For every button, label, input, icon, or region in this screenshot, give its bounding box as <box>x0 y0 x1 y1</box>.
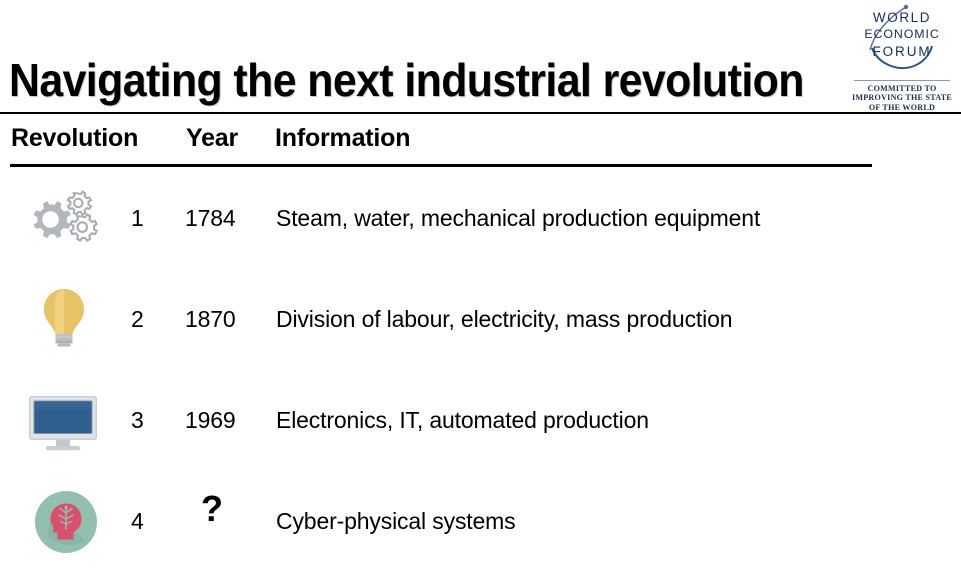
title-divider <box>0 112 961 114</box>
logo-line-forum: FORUM <box>848 43 956 60</box>
cell-information: Cyber-physical systems <box>276 508 516 534</box>
table-row: 1 1784 Steam, water, mechanical producti… <box>0 168 961 269</box>
table-body: 1 1784 Steam, water, mechanical producti… <box>0 168 961 572</box>
column-header-information: Information <box>275 124 410 153</box>
logo-tagline: COMMITTED TO IMPROVING THE STATE OF THE … <box>848 84 956 112</box>
cell-revolution-number: 3 <box>131 407 144 433</box>
lightbulb-icon <box>40 287 132 361</box>
brain-head-icon <box>33 489 125 563</box>
cell-year: 1784 <box>185 205 236 231</box>
logo-tagline-line-1: COMMITTED TO <box>867 84 936 93</box>
cell-revolution-number: 1 <box>131 205 144 231</box>
computer-monitor-icon <box>27 394 119 468</box>
cell-information: Steam, water, mechanical production equi… <box>276 205 760 231</box>
table-header-row: Revolution Year Information <box>0 124 961 162</box>
column-header-year: Year <box>186 124 238 153</box>
cell-year: 1969 <box>185 407 236 433</box>
cell-revolution-number: 2 <box>131 306 144 332</box>
table-row: 2 1870 Division of labour, electricity, … <box>0 269 961 370</box>
cell-information: Electronics, IT, automated production <box>276 407 649 433</box>
cell-revolution-number: 4 <box>131 508 144 534</box>
logo-tagline-line-2: IMPROVING THE STATE <box>852 93 952 102</box>
cell-year: 1870 <box>185 306 236 332</box>
table-row: 4 ? Cyber-physical systems <box>0 471 961 572</box>
header-underline <box>10 164 872 167</box>
logo-line-economic: ECONOMIC <box>848 26 956 43</box>
logo-tagline-line-3: OF THE WORLD <box>869 103 935 112</box>
page-title: Navigating the next industrial revolutio… <box>9 53 781 107</box>
revolutions-table: Revolution Year Information <box>0 124 961 162</box>
column-header-revolution: Revolution <box>11 124 138 153</box>
logo-line-world: WORLD <box>848 9 956 26</box>
logo-divider <box>854 80 950 81</box>
world-economic-forum-logo: WORLD ECONOMIC FORUM COMMITTED TO IMPROV… <box>848 4 956 110</box>
gears-icon <box>24 190 116 264</box>
cell-year: ? <box>201 496 223 522</box>
cell-information: Division of labour, electricity, mass pr… <box>276 306 732 332</box>
logo-wordmark: WORLD ECONOMIC FORUM <box>848 4 956 76</box>
table-row: 3 1969 Electronics, IT, automated produc… <box>0 370 961 471</box>
